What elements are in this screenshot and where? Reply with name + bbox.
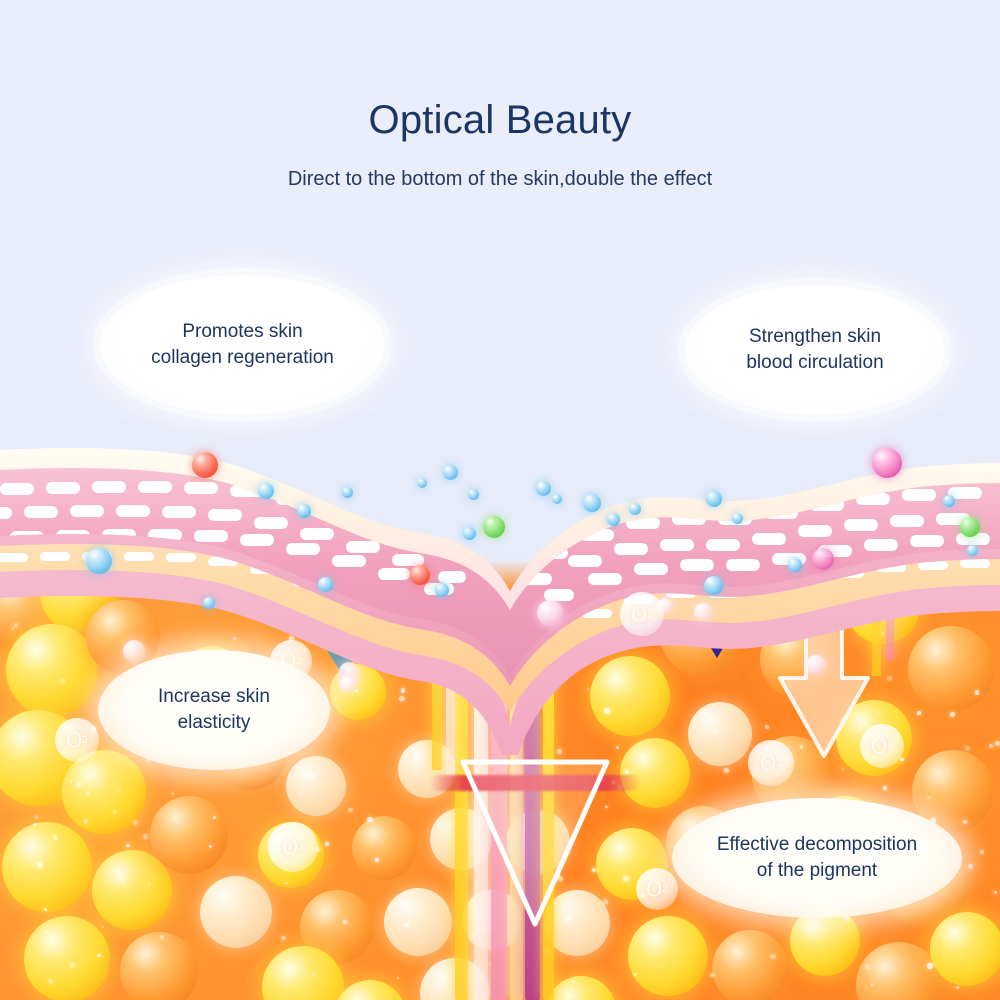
fat-sparkle <box>900 758 903 761</box>
fat-sparkle <box>927 796 930 799</box>
callout-pigment-decomposition[interactable]: Effective decomposition of the pigment <box>672 798 962 918</box>
fat-sparkle <box>400 901 405 906</box>
oxygen-marker: O2 <box>860 724 904 768</box>
oxygen-label: O <box>282 834 298 860</box>
fat-sparkle <box>281 936 286 941</box>
oxygen-label: O <box>631 601 647 627</box>
fat-sparkle <box>956 986 959 989</box>
fat-sparkle <box>871 983 873 985</box>
fat-sparkle <box>544 947 550 953</box>
fat-sparkle <box>34 823 36 825</box>
fat-sparkle <box>404 923 409 928</box>
oxygen-label: O <box>66 727 82 753</box>
oxygen-sup: 2 <box>887 740 893 752</box>
fat-sparkle <box>842 768 845 771</box>
oxygen-sup: 2 <box>776 757 782 769</box>
fat-sparkle <box>572 980 575 983</box>
callout-line-1: Promotes skin <box>182 321 302 342</box>
oxygen-label: O <box>760 750 776 776</box>
fat-sparkle <box>285 882 288 885</box>
callout-line-2: of the pigment <box>757 860 877 881</box>
fat-sparkle <box>625 770 629 774</box>
oxygen-marker: O2 <box>620 592 664 636</box>
callout-line-1: Effective decomposition <box>717 834 917 855</box>
callout-blood-circulation[interactable]: Strengthen skin blood circulation <box>685 285 945 415</box>
fat-sparkle <box>143 834 148 839</box>
fat-sparkle <box>343 920 347 924</box>
fat-sparkle <box>97 954 101 958</box>
fat-sparkle <box>70 963 75 968</box>
fat-sparkle <box>171 792 174 795</box>
fat-sparkle <box>120 878 125 883</box>
white-triangle-beam <box>455 752 615 932</box>
oxygen-sup: 2 <box>662 883 668 895</box>
fat-sparkle <box>927 963 933 969</box>
fat-sparkle <box>35 815 38 818</box>
oxygen-sup: 2 <box>298 841 304 853</box>
page-subtitle: Direct to the bottom of the skin,double … <box>0 168 1000 191</box>
fat-sparkle <box>325 842 328 845</box>
callout-line-2: blood circulation <box>746 352 883 373</box>
callout-line-2: elasticity <box>178 712 251 733</box>
fat-sparkle <box>623 876 628 881</box>
fat-sparkle <box>963 820 967 824</box>
fat-sparkle <box>53 835 57 839</box>
callout-promotes-collagen[interactable]: Promotes skin collagen regeneration <box>100 275 385 415</box>
fat-sparkle <box>489 963 493 967</box>
fat-sparkle <box>84 819 88 823</box>
oxygen-marker: O2 <box>748 740 794 786</box>
oxygen-marker: O2 <box>636 868 678 910</box>
oxygen-label: O <box>871 733 887 759</box>
fat-sparkle <box>118 788 121 791</box>
oxygen-sup: 2 <box>296 655 302 667</box>
callout-line-1: Increase skin <box>158 686 270 707</box>
callout-line-1: Strengthen skin <box>749 326 881 347</box>
fat-sparkle <box>44 908 47 911</box>
fat-sparkle <box>375 858 379 862</box>
fat-sparkle <box>367 817 372 822</box>
page-title: Optical Beauty <box>0 98 1000 143</box>
oxygen-sup: 2 <box>647 608 653 620</box>
fat-sparkle <box>471 933 477 939</box>
fat-sparkle <box>213 816 216 819</box>
callout-line-2: collagen regeneration <box>151 347 334 368</box>
oxygen-marker: O2 <box>55 718 99 762</box>
callout-skin-elasticity[interactable]: Increase skin elasticity <box>98 650 330 770</box>
fat-sparkle <box>48 979 53 984</box>
oxygen-sup: 2 <box>82 734 88 746</box>
oxygen-marker: O2 <box>268 822 318 872</box>
oxygen-label: O <box>646 876 662 902</box>
fat-sparkle <box>348 808 353 813</box>
infographic-canvas: O2 O2 O2 O2 O2 O2 O2 Promotes skin colla… <box>0 0 1000 1000</box>
